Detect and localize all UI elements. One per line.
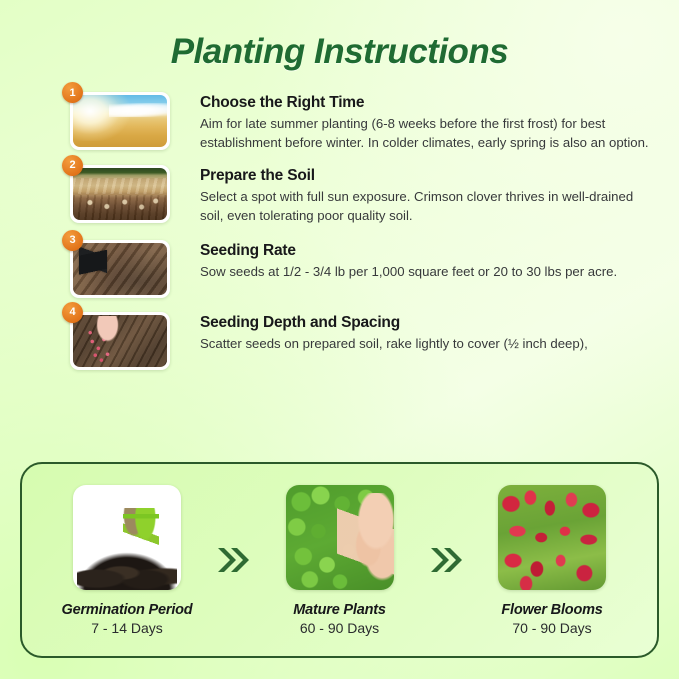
- step-thumbnail-card-3: [70, 240, 170, 298]
- sunlit-wheat-field-photo: [73, 95, 167, 147]
- timeline-stage-label-1: Germination Period: [52, 602, 202, 618]
- step-text-3: Seeding Rate Sow seeds at 1/2 - 3/4 lb p…: [170, 240, 657, 282]
- step-number-badge-1: 1: [62, 82, 83, 103]
- step-thumbnail-card-2: [70, 165, 170, 223]
- timeline-stage-days-2: 60 - 90 Days: [265, 620, 415, 636]
- step-thumbnail-card-1: [70, 92, 170, 150]
- step-number-badge-2: 2: [62, 155, 83, 176]
- page-title: Planting Instructions: [0, 0, 679, 72]
- step-thumbnail-wrap-4: 4: [70, 312, 170, 370]
- timeline-stage-2: Mature Plants 60 - 90 Days: [265, 485, 415, 636]
- step-thumbnail-wrap-3: 3: [70, 240, 170, 298]
- timeline-stage-label-2: Mature Plants: [265, 602, 415, 618]
- step-text-4: Seeding Depth and Spacing Scatter seeds …: [170, 312, 657, 354]
- step-item-3: 3 Seeding Rate Sow seeds at 1/2 - 3/4 lb…: [70, 240, 657, 298]
- growth-timeline-panel: Germination Period 7 - 14 Days Mature Pl…: [20, 462, 659, 658]
- steps-list: 1 Choose the Right Time Aim for late sum…: [0, 92, 679, 370]
- step-title-3: Seeding Rate: [200, 242, 657, 260]
- step-item-4: 4 Seeding Depth and Spacing Scatter seed…: [70, 312, 657, 370]
- timeline-stage-label-3: Flower Blooms: [477, 602, 627, 618]
- step-text-1: Choose the Right Time Aim for late summe…: [170, 92, 657, 153]
- double-chevron-right-icon-2: [425, 545, 467, 575]
- clover-foliage-with-hand-photo: [286, 485, 394, 590]
- timeline-stage-days-1: 7 - 14 Days: [52, 620, 202, 636]
- step-number-badge-4: 4: [62, 302, 83, 323]
- step-description-1: Aim for late summer planting (6-8 weeks …: [200, 115, 657, 153]
- tilled-soil-photo: [73, 243, 167, 295]
- step-text-2: Prepare the Soil Select a spot with full…: [170, 165, 657, 226]
- step-description-4: Scatter seeds on prepared soil, rake lig…: [200, 335, 657, 354]
- timeline-stage-3: Flower Blooms 70 - 90 Days: [477, 485, 627, 636]
- timeline-stage-1: Germination Period 7 - 14 Days: [52, 485, 202, 636]
- step-title-4: Seeding Depth and Spacing: [200, 314, 657, 332]
- step-thumbnail-wrap-1: 1: [70, 92, 170, 150]
- double-chevron-right-icon-1: [212, 545, 254, 575]
- step-description-3: Sow seeds at 1/2 - 3/4 lb per 1,000 squa…: [200, 263, 657, 282]
- crimson-clover-flowers-photo: [498, 485, 606, 590]
- step-description-2: Select a spot with full sun exposure. Cr…: [200, 188, 657, 226]
- harvested-field-photo: [73, 168, 167, 220]
- step-thumbnail-wrap-2: 2: [70, 165, 170, 223]
- infographic-root: Planting Instructions 1 Choose the Right…: [0, 0, 679, 370]
- sprouting-seedling-photo: [73, 485, 181, 590]
- step-thumbnail-card-4: [70, 312, 170, 370]
- step-title-1: Choose the Right Time: [200, 94, 657, 112]
- step-item-2: 2 Prepare the Soil Select a spot with fu…: [70, 165, 657, 226]
- timeline-stage-days-3: 70 - 90 Days: [477, 620, 627, 636]
- hand-scattering-seeds-photo: [73, 315, 167, 367]
- step-title-2: Prepare the Soil: [200, 167, 657, 185]
- step-number-badge-3: 3: [62, 230, 83, 251]
- step-item-1: 1 Choose the Right Time Aim for late sum…: [70, 92, 657, 153]
